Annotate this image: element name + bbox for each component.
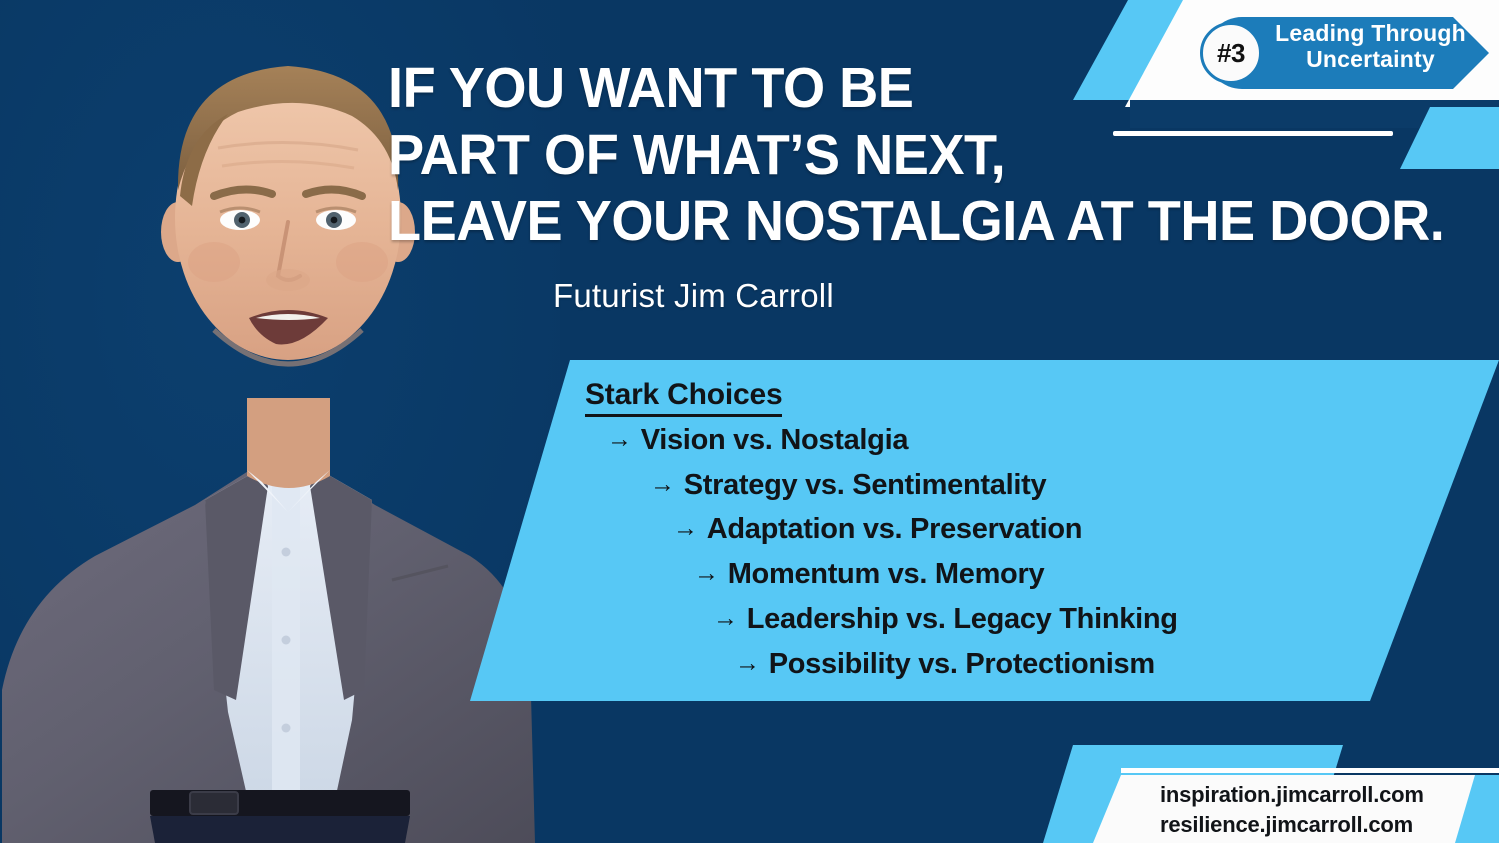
speaker-byline: Futurist Jim Carroll bbox=[553, 277, 834, 315]
arrow-icon: → bbox=[673, 514, 698, 542]
choice-item-6: →Possibility vs. Protectionism bbox=[735, 648, 1155, 681]
choice-label: Possibility vs. Protectionism bbox=[769, 648, 1155, 680]
choice-label: Strategy vs. Sentimentality bbox=[684, 469, 1047, 501]
footer-link-resilience[interactable]: resilience.jimcarroll.com bbox=[1160, 810, 1460, 840]
choice-item-3: →Adaptation vs. Preservation bbox=[673, 513, 1082, 546]
arrow-icon: → bbox=[607, 425, 632, 453]
choice-label: Leadership vs. Legacy Thinking bbox=[747, 603, 1178, 635]
choice-label: Adaptation vs. Preservation bbox=[707, 513, 1082, 545]
choice-item-1: →Vision vs. Nostalgia bbox=[607, 424, 908, 457]
arrow-icon: → bbox=[713, 604, 738, 632]
choice-item-2: →Strategy vs. Sentimentality bbox=[650, 469, 1046, 502]
panel-title: Stark Choices bbox=[585, 378, 782, 417]
choice-item-5: →Leadership vs. Legacy Thinking bbox=[713, 603, 1178, 636]
arrow-icon: → bbox=[694, 559, 719, 587]
footer-link-inspiration[interactable]: inspiration.jimcarroll.com bbox=[1160, 780, 1460, 810]
choice-label: Momentum vs. Memory bbox=[728, 558, 1045, 590]
choice-item-4: →Momentum vs. Memory bbox=[694, 558, 1044, 591]
presentation-slide: #3 Leading Through Uncertainty IF YOU WA… bbox=[0, 0, 1499, 843]
headline: IF YOU WANT TO BE PART OF WHAT’S NEXT, L… bbox=[388, 55, 1424, 255]
headline-line-3: LEAVE YOUR NOSTALGIA AT THE DOOR. bbox=[388, 188, 1424, 255]
headline-line-1: IF YOU WANT TO BE bbox=[388, 55, 1424, 122]
arrow-icon: → bbox=[735, 649, 760, 677]
headline-line-2: PART OF WHAT’S NEXT, bbox=[388, 122, 1424, 189]
choice-label: Vision vs. Nostalgia bbox=[641, 424, 908, 456]
stark-choices-content: Stark Choices →Vision vs. Nostalgia →Str… bbox=[470, 360, 1499, 701]
bottom-divider-rule bbox=[1121, 768, 1499, 773]
footer-links: inspiration.jimcarroll.com resilience.ji… bbox=[1160, 780, 1460, 839]
episode-title-line1: Leading Through bbox=[1263, 20, 1478, 46]
arrow-icon: → bbox=[650, 470, 675, 498]
